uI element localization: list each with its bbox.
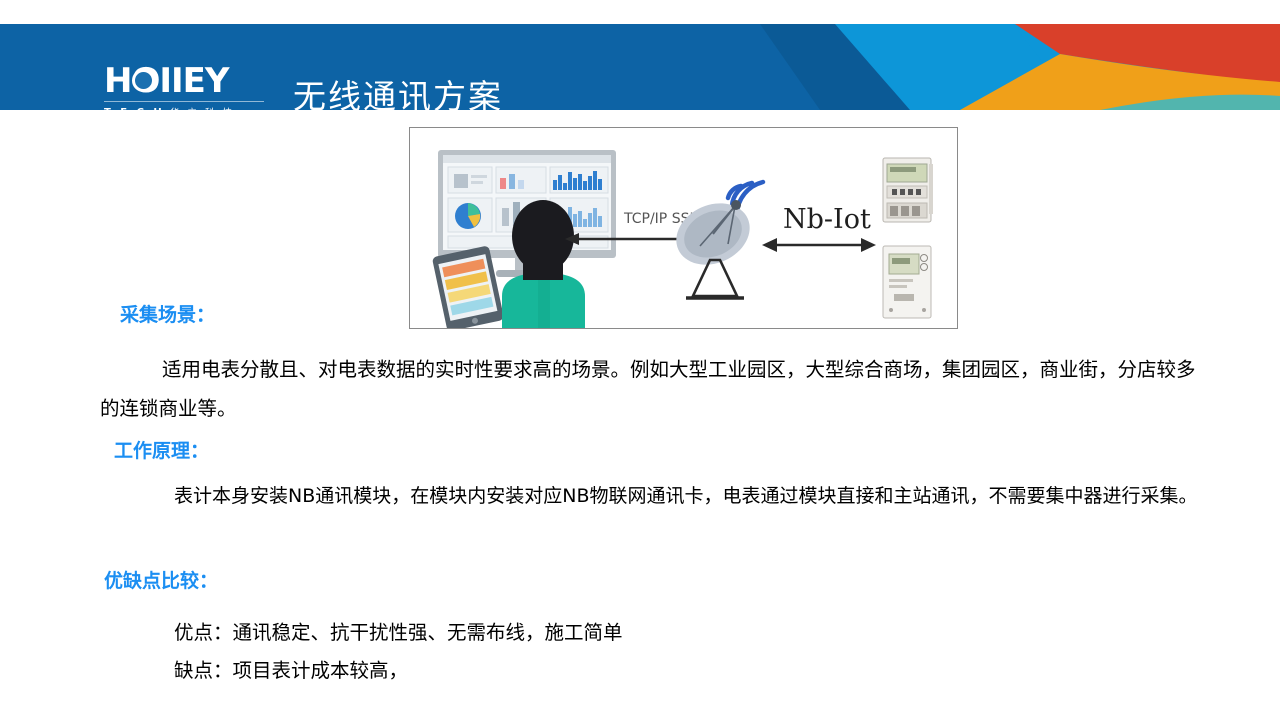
section-body-principle: 表计本身安装NB通讯模块，在模块内安装对应NB物联网通讯卡，电表通过模块直接和主… xyxy=(146,476,1208,516)
banner-decoration-waves xyxy=(760,24,1280,110)
comparison-cons-line: 缺点：项目表计成本较高， xyxy=(174,653,408,689)
logo-sub-en: T E C H xyxy=(104,107,165,111)
comparison-pros-line: 优点：通讯稳定、抗干扰性强、无需布线，施工简单 xyxy=(174,615,623,651)
section-heading-scene: 采集场景： xyxy=(120,300,215,327)
satellite-dish-icon xyxy=(666,182,763,298)
network-topology-diagram: TCP/IP SSL Nb-Iot xyxy=(409,127,958,329)
electric-meter-top xyxy=(883,158,933,222)
logo-wordmark: HOIIEY xyxy=(104,64,264,98)
nb-iot-label: Nb-Iot xyxy=(783,204,871,235)
section-heading-principle: 工作原理： xyxy=(114,436,209,463)
logo-sub-cn: 华 立 科 技 xyxy=(170,105,235,110)
section-heading-comparison: 优缺点比较： xyxy=(104,566,218,593)
holley-logo: HOIIEY T E C H 华 立 科 技 xyxy=(104,64,264,110)
header-banner: HOIIEY T E C H 华 立 科 技 无线通讯方案 xyxy=(0,24,1280,110)
logo-o-ring-icon xyxy=(132,69,155,92)
page-title: 无线通讯方案 xyxy=(293,70,503,110)
diagram-canvas: TCP/IP SSL Nb-Iot xyxy=(410,128,957,328)
arrow-right-segment xyxy=(762,238,876,252)
logo-subtitle: T E C H 华 立 科 技 xyxy=(104,101,264,110)
section-body-scene: 适用电表分散且、对电表数据的实时性要求高的场景。例如大型工业园区，大型综合商场，… xyxy=(100,350,1210,428)
electric-meter-bottom xyxy=(883,246,931,318)
